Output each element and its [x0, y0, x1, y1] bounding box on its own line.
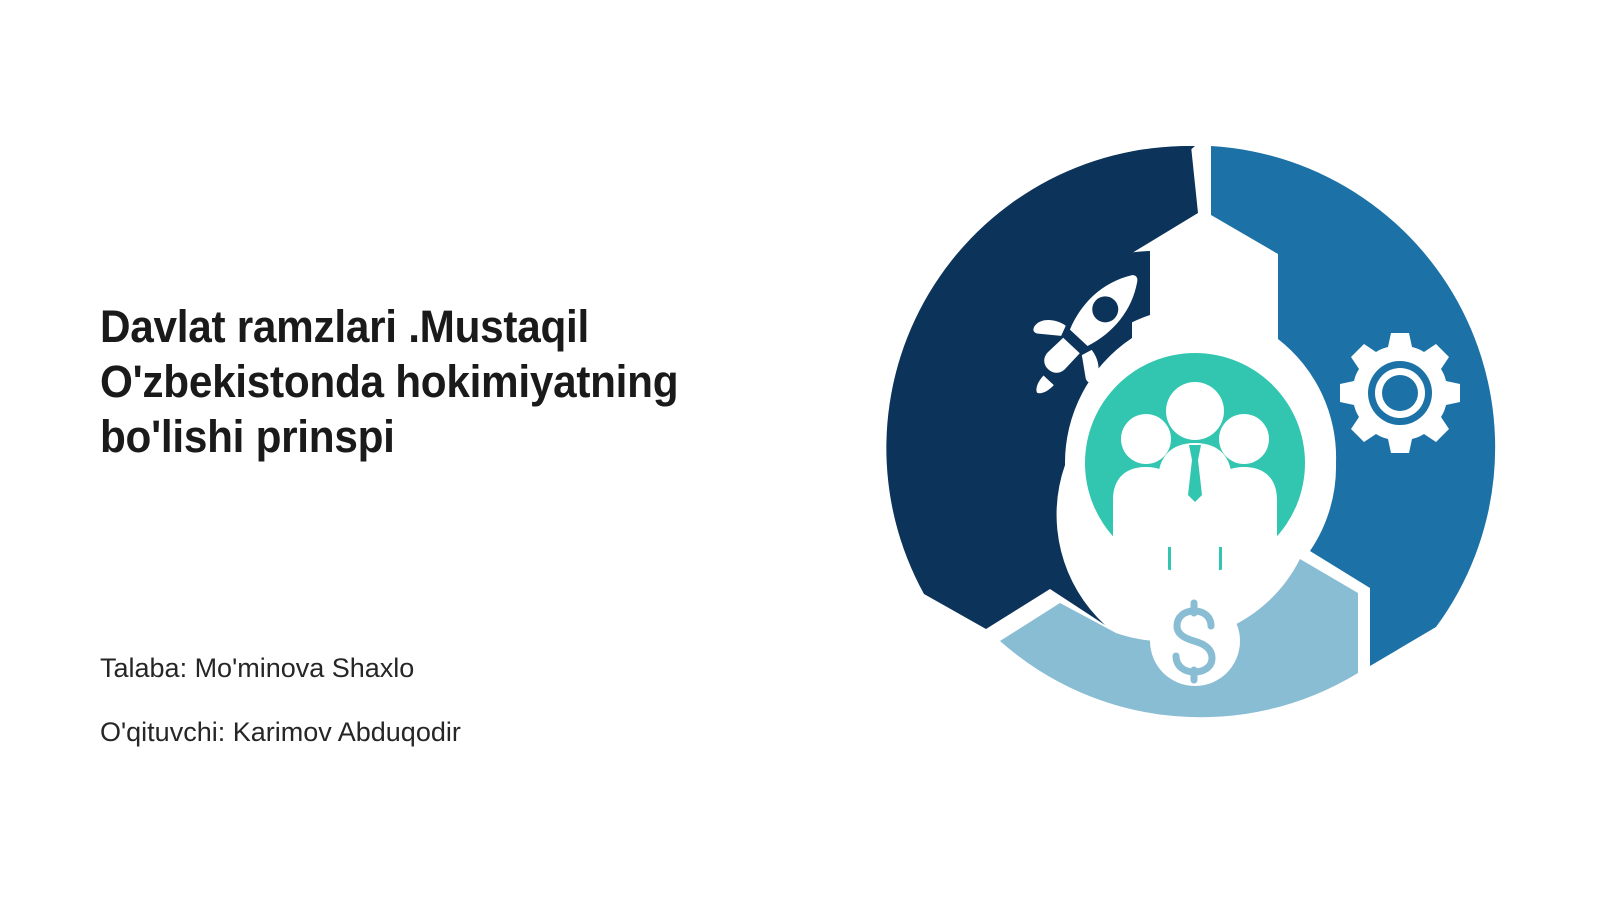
three-segment-circle-diagram	[880, 133, 1510, 763]
gear-icon	[1340, 333, 1460, 453]
teacher-name-line: O'qituvchi: Karimov Abduqodir	[100, 716, 800, 748]
student-name-line: Talaba: Mo'minova Shaxlo	[100, 652, 800, 684]
page-title: Davlat ramzlari .Mustaqil O'zbekistonda …	[100, 300, 720, 465]
credits-block: Talaba: Mo'minova Shaxlo O'qituvchi: Kar…	[100, 652, 800, 749]
title-block: Davlat ramzlari .Mustaqil O'zbekistonda …	[100, 300, 760, 465]
title-slide: Davlat ramzlari .Mustaqil O'zbekistonda …	[0, 0, 1600, 900]
dollar-coin-icon	[1150, 596, 1240, 686]
